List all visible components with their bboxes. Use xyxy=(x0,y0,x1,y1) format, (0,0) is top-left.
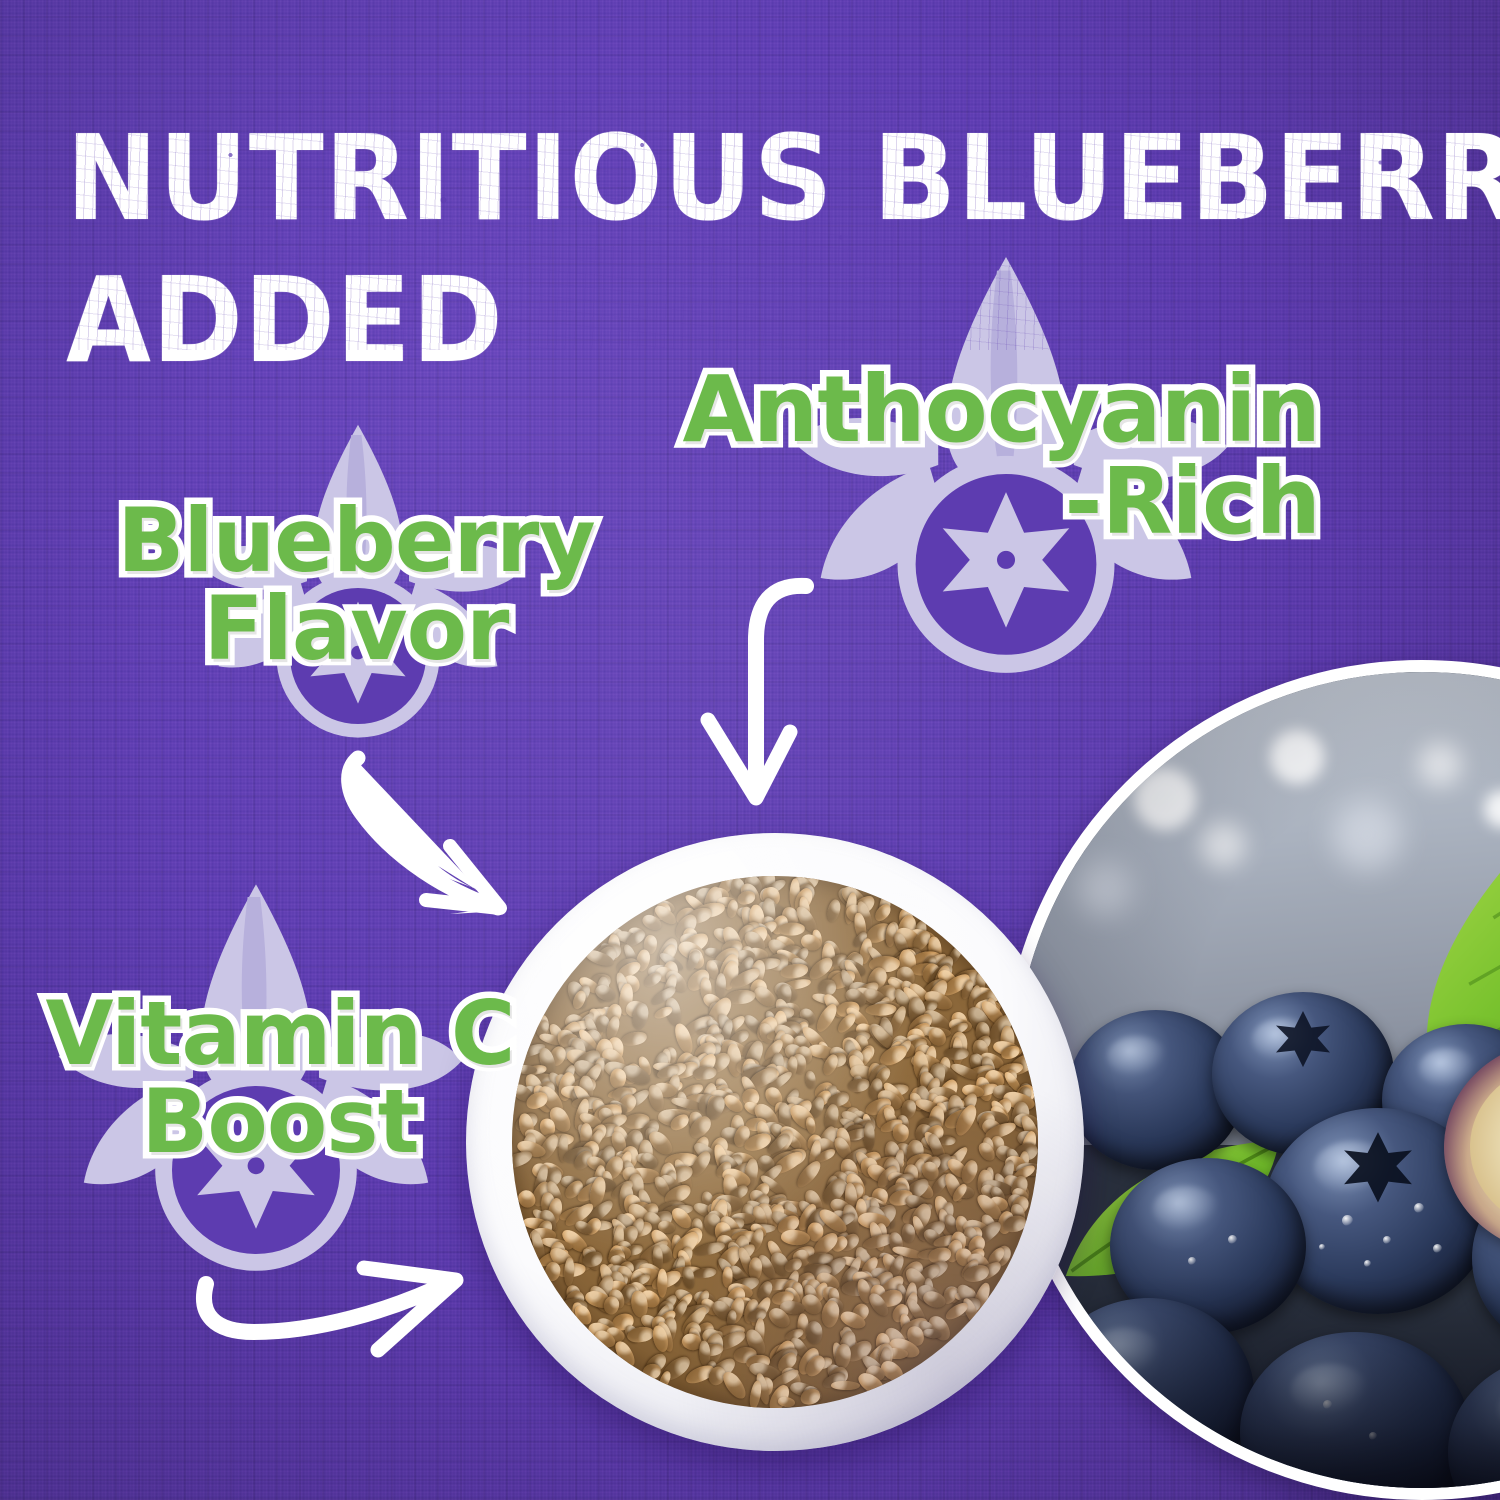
bokeh-light xyxy=(1134,768,1196,830)
kibble-pellet xyxy=(609,1067,627,1089)
callout-vitamin-c-boost: Vitamin C Boost xyxy=(20,990,540,1166)
bokeh-light xyxy=(1270,730,1324,784)
kibble-pellet xyxy=(892,1124,909,1142)
product-feature-banner: NUTRITIOUS BLUEBERRY ADDED Blueberry Fla… xyxy=(0,0,1500,1500)
arrow-to-bowl-top-icon xyxy=(694,566,914,814)
bokeh-light xyxy=(1076,860,1132,916)
callout-anthocyanin-rich-line-2: -Rich xyxy=(640,456,1320,548)
kibble-pellet xyxy=(716,973,727,999)
callout-blueberry-flavor-line-1: Blueberry xyxy=(96,497,616,585)
headline: NUTRITIOUS BLUEBERRY ADDED xyxy=(66,108,1377,391)
callout-vitamin-c-boost-line-2: Boost xyxy=(20,1078,540,1166)
kibble-pellet xyxy=(593,982,618,1004)
bowl-of-kibble xyxy=(466,833,1084,1451)
kibble-pellet xyxy=(805,1116,818,1135)
kibble-pellet xyxy=(778,923,805,936)
callout-blueberry-flavor: Blueberry Flavor xyxy=(96,497,616,673)
photo-content xyxy=(1014,672,1500,1488)
callout-anthocyanin-rich: Anthocyanin -Rich xyxy=(640,364,1320,548)
berry-flesh xyxy=(1470,1064,1500,1231)
kibble-pellet xyxy=(806,1321,823,1345)
bowl-interior xyxy=(512,876,1037,1407)
photo-bottom-shadow xyxy=(1014,1276,1500,1488)
headline-line-1: NUTRITIOUS BLUEBERRY xyxy=(66,108,1377,250)
kibble-pellet xyxy=(902,1223,916,1243)
callout-blueberry-flavor-line-2: Flavor xyxy=(96,585,616,673)
arrow-to-bowl-lower-left-icon xyxy=(172,1252,472,1394)
kibble-pellet xyxy=(831,1381,860,1391)
bokeh-light xyxy=(1200,822,1246,868)
callout-vitamin-c-boost-line-1: Vitamin C xyxy=(20,990,540,1078)
kibble-pellet xyxy=(813,1001,840,1034)
kibble-pellet xyxy=(620,1029,648,1047)
kibble-pellet xyxy=(658,1269,668,1298)
kibble-pellet xyxy=(692,1066,716,1080)
blueberry-crown-icon xyxy=(1265,1007,1341,1069)
bokeh-light xyxy=(1332,800,1402,870)
kibble-pellet xyxy=(564,1257,575,1286)
kibble-pellet xyxy=(846,1077,870,1094)
callout-anthocyanin-rich-line-1: Anthocyanin xyxy=(640,364,1320,456)
kibble-pellet xyxy=(825,898,842,924)
kibble-pellet xyxy=(805,1070,817,1089)
kibble-pellet xyxy=(719,1368,749,1402)
arrow-to-bowl-upper-left-icon xyxy=(300,742,580,924)
kibble-pellet xyxy=(748,1380,763,1408)
